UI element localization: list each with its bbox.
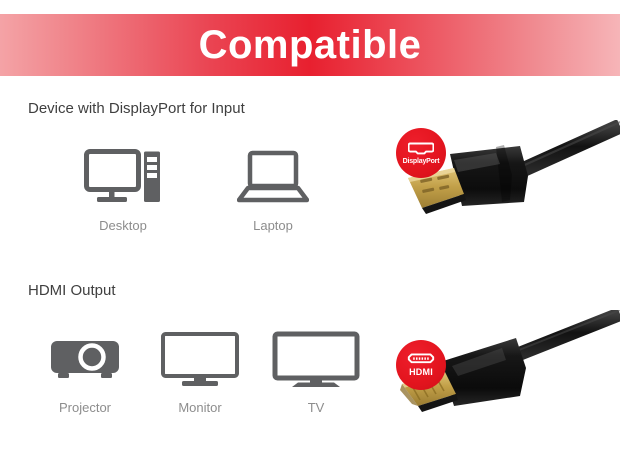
device-label-desktop: Desktop — [99, 218, 147, 233]
device-item-desktop: Desktop — [64, 142, 182, 252]
displayport-connector-group: DisplayPort — [392, 120, 620, 250]
hdmi-badge: HDMI — [396, 340, 446, 390]
monitor-icon — [160, 324, 240, 396]
device-item-tv: TV — [257, 324, 375, 434]
television-icon — [272, 324, 360, 396]
displayport-port-icon — [408, 142, 434, 155]
section-heading-hdmi: HDMI Output — [28, 282, 116, 299]
header-banner: Compatible — [0, 14, 620, 76]
hdmi-badge-label: HDMI — [409, 368, 433, 377]
device-label-tv: TV — [308, 400, 325, 415]
laptop-icon — [237, 142, 309, 214]
page-title: Compatible — [199, 25, 422, 65]
section-hdmi-output: HDMI Output Projector — [0, 282, 620, 442]
device-item-monitor: Monitor — [141, 324, 259, 434]
device-item-projector: Projector — [26, 324, 144, 434]
displayport-badge-label: DisplayPort — [403, 158, 440, 165]
device-label-monitor: Monitor — [178, 400, 221, 415]
device-label-laptop: Laptop — [253, 218, 293, 233]
device-item-laptop: Laptop — [214, 142, 332, 252]
hdmi-connector-group: HDMI — [392, 310, 620, 435]
displayport-badge: DisplayPort — [396, 128, 446, 178]
section-displayport-input: Device with DisplayPort for Input — [0, 100, 620, 265]
device-icon-row-hdmi: Projector Monitor — [22, 324, 382, 434]
section-heading-displayport: Device with DisplayPort for Input — [28, 100, 245, 117]
desktop-computer-icon — [84, 142, 162, 214]
device-icon-row-displayport: Desktop Laptop — [22, 142, 382, 252]
projector-icon — [48, 324, 122, 396]
compatibility-infographic: Compatible Device with DisplayPort for I… — [0, 0, 620, 450]
device-label-projector: Projector — [59, 400, 111, 415]
hdmi-port-icon — [407, 353, 435, 364]
